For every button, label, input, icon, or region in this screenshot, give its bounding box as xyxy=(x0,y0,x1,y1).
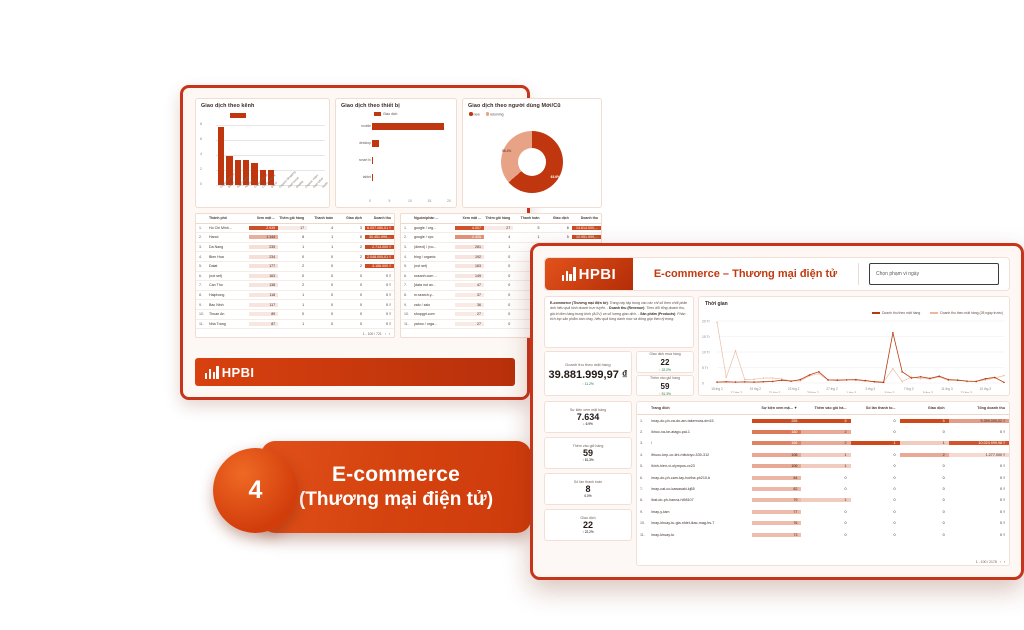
table-cell: 0 ₫ xyxy=(949,533,1009,537)
table-cell: 2. xyxy=(196,235,207,239)
table-cell: 5 xyxy=(543,235,572,239)
donut-chart: 63.6% 36.4% xyxy=(501,131,563,193)
step-badge-line1: E-commerce xyxy=(332,463,460,487)
table-cell: 0 xyxy=(307,303,336,307)
kpi-delta: ↑ 22.2% xyxy=(582,530,594,534)
table-row[interactable]: 11.Nha Trang871000 ₫ xyxy=(196,320,394,330)
table-cell: 0 xyxy=(900,521,949,525)
table-cell: 0 xyxy=(336,293,365,297)
table-cell: /may-do-ph-va-do-am-takemura-dm15 xyxy=(649,419,752,423)
column-header[interactable]: Thêm giỏ hàng xyxy=(278,216,307,220)
table-cell: 0 xyxy=(484,293,513,297)
column-header[interactable]: Tổng doanh thu xyxy=(949,406,1009,410)
table-cell: 1 xyxy=(278,293,307,297)
table-cell: 0 ₫ xyxy=(949,487,1009,491)
kpi-value: 59 xyxy=(583,448,593,458)
table-row[interactable]: 4.Bien Hoa2340022.048.000,01 ₫ xyxy=(196,252,394,262)
screenshot-stage: Giao dịch theo kênh 8 6 4 2 0 Organic Se… xyxy=(0,0,1024,630)
kpi-card: Số lần thanh toán80.0% xyxy=(544,473,632,505)
table-cell: 37 xyxy=(455,293,484,297)
table-cell: 10. xyxy=(196,312,207,316)
legend-dot-returning xyxy=(486,112,490,116)
svg-text:1 thg 3: 1 thg 3 xyxy=(846,391,856,393)
table-cell: 0 xyxy=(851,487,900,491)
table-cell: 1 xyxy=(513,235,542,239)
kpi-card: Giao dịch22↑ 22.2% xyxy=(544,509,632,541)
table-cell: 5 xyxy=(900,419,949,423)
table-cell: 0 ₫ xyxy=(949,521,1009,525)
table-cell: 0 xyxy=(278,255,307,259)
table-cell: 0 xyxy=(307,255,336,259)
table-cell: 2 xyxy=(336,255,365,259)
kpi-delta: ↑ 51.3% xyxy=(582,458,594,462)
table-row[interactable]: 1.google / org...4.007275814.614.000,... xyxy=(401,224,601,234)
table-row[interactable]: 6./may-do-ph-cam-tay-horiba-ph210-b84000… xyxy=(637,472,1009,483)
table-cell: bing / organic xyxy=(412,255,455,259)
table-cell: 14.614.000,... xyxy=(572,226,601,230)
column-header[interactable]: Thanh toán xyxy=(307,216,336,220)
table-cell: 108 xyxy=(752,453,801,457)
legend-item-returning: returning xyxy=(486,112,504,117)
table-cell: 1. xyxy=(196,226,207,230)
table-cell: 5. xyxy=(637,464,649,468)
table-cell: 11. xyxy=(401,322,412,326)
column-header[interactable]: Giao dịch xyxy=(543,216,572,220)
kpi-addcart: Thêm vào giỏ hàng 59 ↑ 51.3% xyxy=(636,375,694,396)
table-cell: 5 xyxy=(801,419,850,423)
table-cell: 0 xyxy=(851,533,900,537)
svg-text:0: 0 xyxy=(702,382,704,386)
table-cell: 118 xyxy=(249,293,278,297)
table-row[interactable]: 8./bat-do-ph-hanna-hi98107791000 ₫ xyxy=(637,495,1009,506)
time-series-legend: Doanh thu theo mặt hàng Doanh thu theo m… xyxy=(872,311,1003,315)
chart-panel-device: Giao dịch theo thiết bị Giao dịch mobile… xyxy=(335,98,457,208)
table-cell: 0 xyxy=(307,293,336,297)
table-cell: 8. xyxy=(401,293,412,297)
svg-text:11 thg 3: 11 thg 3 xyxy=(941,387,953,391)
table-cell: 10. xyxy=(637,521,649,525)
table-city[interactable]: Thành phốXem mặt ...Thêm giỏ hàngThanh t… xyxy=(195,213,395,338)
legend-marker-current xyxy=(872,312,880,314)
table-cell: 6.057.080,01 ₫ xyxy=(365,226,394,230)
table-cell: 2. xyxy=(637,430,649,434)
table-row[interactable]: 2.google / cpc2.40541510.951.999,... xyxy=(401,233,601,243)
table-cell: 6 xyxy=(336,235,365,239)
table-city-pager[interactable]: 1 - 100 / 721 ‹ › xyxy=(363,332,390,336)
legend-label-new: new xyxy=(473,113,479,117)
table-cell: 3. xyxy=(637,441,649,445)
table-cell: 3. xyxy=(401,245,412,249)
column-header[interactable]: Sự kiện xem mặ... ▼ xyxy=(752,406,801,410)
table-cell: 30.451.999,... xyxy=(365,235,394,239)
table-cell: 2.048.000,01 ₫ xyxy=(365,255,394,259)
table-row[interactable]: 7./may-cat-co-kawasaki-kj65820000 ₫ xyxy=(637,483,1009,494)
column-header[interactable]: Trang đích xyxy=(649,406,752,410)
table-row[interactable]: 10.Thuan An890000 ₫ xyxy=(196,310,394,320)
table-cell: 3 xyxy=(336,226,365,230)
table-header-row: Thành phốXem mặt ...Thêm giỏ hàngThanh t… xyxy=(196,214,394,224)
table-cell: 4 xyxy=(484,235,513,239)
table-cell: 2.405 xyxy=(455,235,484,239)
table-cell: 177 xyxy=(249,264,278,268)
table-cell: 281 xyxy=(455,245,484,249)
time-series-plot: 05 Tr10 Tr15 Tr20 Tr15 thg 217 thg 219 t… xyxy=(701,319,1006,393)
table-row[interactable]: 9.Bac Ninh1171000 ₫ xyxy=(196,300,394,310)
hbar xyxy=(372,123,444,130)
table-cell: (not set) xyxy=(412,264,455,268)
kpi-card: Sự kiện xem mặt hàng7.634↓ 6.9% xyxy=(544,401,632,433)
date-range-placeholder: Chọn phạm vi ngày xyxy=(876,271,919,277)
chart-bars-icon xyxy=(562,268,576,281)
table-cell: 0 xyxy=(484,274,513,278)
table-cell: yahoo / orga... xyxy=(412,322,455,326)
table-cell: Can Tho xyxy=(207,283,249,287)
legend-swatch-device xyxy=(374,112,381,116)
kpi-delta: ↓ 6.9% xyxy=(583,422,593,426)
table-cell: 0 xyxy=(801,487,850,491)
table-cell: 0 xyxy=(900,533,949,537)
table-row[interactable]: 7.Can Tho1382000 ₫ xyxy=(196,281,394,291)
legend-marker-previous xyxy=(930,312,938,314)
table-cell: 0 xyxy=(851,453,900,457)
kpi-value: 7.634 xyxy=(577,412,600,422)
table-cell: 0 xyxy=(851,430,900,434)
hbar xyxy=(372,157,373,164)
table-cell: (not set) xyxy=(207,274,249,278)
column-header[interactable]: Số lần thanh to... xyxy=(851,406,900,410)
table-cell: 0 xyxy=(900,430,949,434)
kpi-revenue-label: Doanh thu theo mặt hàng xyxy=(565,362,610,367)
xaxis-tick: 20 xyxy=(447,199,451,203)
table-cell: 0 ₫ xyxy=(949,430,1009,434)
column-header[interactable]: Giao dịch xyxy=(336,216,365,220)
table-cell: 2 xyxy=(278,264,307,268)
table-cell: 1 xyxy=(278,303,307,307)
xaxis-tick: 10 xyxy=(408,199,412,203)
table-cell: 0 xyxy=(801,510,850,514)
legend-swatch-channel xyxy=(230,113,246,118)
table-cell: 0 xyxy=(900,464,949,468)
table-cell: [data not av... xyxy=(412,283,455,287)
table-cell: 79 xyxy=(752,498,801,502)
column-header[interactable]: Doanh thu xyxy=(365,216,394,220)
table-cell: Bien Hoa xyxy=(207,255,249,259)
table-cell: 0 xyxy=(336,283,365,287)
column-header[interactable]: Thêm vào giỏ hà... xyxy=(801,406,850,410)
table-cell: Hanoi xyxy=(207,235,249,239)
legend-label-previous: Doanh thu theo mặt hàng (28 ngày trước) xyxy=(940,311,1003,315)
kpi-purchase-value: 22 xyxy=(661,358,670,367)
svg-text:9 thg 3: 9 thg 3 xyxy=(923,391,933,393)
xaxis-tick: 15 xyxy=(428,199,432,203)
svg-text:5 Tr: 5 Tr xyxy=(702,366,709,370)
table-cell: 0 xyxy=(484,312,513,316)
table-cell: 7. xyxy=(401,283,412,287)
svg-text:15 Tr: 15 Tr xyxy=(702,335,711,339)
table-cell: 1. xyxy=(637,419,649,423)
step-badge-number: 4 xyxy=(213,448,298,533)
kpi-addcart-label: Thêm vào giỏ hàng xyxy=(650,376,680,380)
kpi-value: 22 xyxy=(583,520,593,530)
date-range-input[interactable]: Chọn phạm vi ngày xyxy=(869,263,999,285)
table-cell: 180 xyxy=(752,430,801,434)
table-cell: 84 xyxy=(752,476,801,480)
table-cell: 7. xyxy=(637,487,649,491)
table-cell: 2.713.000 ₫ xyxy=(365,245,394,249)
table-cell: 4 xyxy=(307,226,336,230)
table-cell: 0 xyxy=(851,464,900,468)
legend-item-previous: Doanh thu theo mặt hàng (28 ngày trước) xyxy=(930,311,1003,315)
table-cell: 234 xyxy=(249,255,278,259)
table-cell: 4. xyxy=(637,453,649,457)
kpi-card: Thêm vào giỏ hàng59↑ 51.3% xyxy=(544,437,632,469)
chart-title-device: Giao dịch theo thiết bị xyxy=(341,103,400,109)
table-cell: 1 xyxy=(851,441,900,445)
header-divider xyxy=(858,263,859,285)
legend-label-current: Doanh thu theo mặt hàng xyxy=(882,311,920,315)
table-cell: Dalat xyxy=(207,264,249,268)
table-cell: zalo / zalo xyxy=(412,303,455,307)
table-cell: 27 xyxy=(484,226,513,230)
kpi-column: Sự kiện xem mặt hàng7.634↓ 6.9%Thêm vào … xyxy=(544,401,632,566)
hbar-label: tablet xyxy=(341,175,371,179)
ytick-4: 4 xyxy=(200,152,202,156)
table-cell: 163 xyxy=(455,264,484,268)
table-row[interactable]: 2.Hanoi1.14481630.451.999,... xyxy=(196,233,394,243)
xaxis-tick: 0 xyxy=(369,199,371,203)
table-cell: 1 xyxy=(307,235,336,239)
table-cell: google / cpc xyxy=(412,235,455,239)
legend-item-current: Doanh thu theo mặt hàng xyxy=(872,311,920,315)
table-cell: 89 xyxy=(249,312,278,316)
svg-text:21 thg 2: 21 thg 2 xyxy=(769,391,781,393)
table-cell: 0 xyxy=(278,274,307,278)
table-cell: 0 xyxy=(801,533,850,537)
table-cell: 2.939 xyxy=(249,226,278,230)
table-cell: 0 xyxy=(278,312,307,316)
bar xyxy=(218,127,224,185)
chart-title-newreturning: Giao dịch theo người dùng Mới/Cũ xyxy=(468,103,561,109)
table-cell: 0 ₫ xyxy=(949,510,1009,514)
hbar xyxy=(372,140,379,147)
front-dashboard-canvas: HPBI E-commerce – Thương mại điện tử Chọ… xyxy=(538,251,1016,572)
kpi-revenue-value: 39.881.999,97 ₫ xyxy=(548,369,627,381)
svg-text:10 Tr: 10 Tr xyxy=(702,351,711,355)
table-cell: Haiphong xyxy=(207,293,249,297)
table-cell: 0 ₫ xyxy=(365,283,394,287)
table-cell: 0 xyxy=(484,255,513,259)
chart-panel-newreturning: Giao dịch theo người dùng Mới/Cũ new ret… xyxy=(462,98,602,208)
table-cell: Da Nang xyxy=(207,245,249,249)
table-row[interactable]: 5.Dalat1772023.156.000 ₫ xyxy=(196,262,394,272)
table-cell: 6. xyxy=(196,274,207,278)
table-row[interactable]: 3.Da Nang2351122.713.000 ₫ xyxy=(196,243,394,253)
kpi-revenue: Doanh thu theo mặt hàng 39.881.999,97 ₫ … xyxy=(544,351,632,396)
legend-item-new: new xyxy=(469,112,480,117)
table-landing-pager[interactable]: 1 - 100 / 2178 ‹ › xyxy=(976,560,1005,564)
table-cell: 0 xyxy=(484,322,513,326)
ytick-6: 6 xyxy=(200,137,202,141)
table-cell: / xyxy=(649,441,752,445)
ytick-2: 2 xyxy=(200,167,202,171)
table-row[interactable]: 10./may-khuay-tu-gia-nhiet-ikac-mag-hs-7… xyxy=(637,518,1009,529)
svg-text:20 Tr: 20 Tr xyxy=(702,320,711,324)
table-cell: 2 xyxy=(801,430,850,434)
table-cell: 0 ₫ xyxy=(365,303,394,307)
table-cell: 9. xyxy=(196,303,207,307)
svg-text:23 thg 2: 23 thg 2 xyxy=(788,387,800,391)
table-cell: 0 xyxy=(307,264,336,268)
table-row[interactable]: 6.(not set)1630000 ₫ xyxy=(196,272,394,282)
table-cell: 5.359.000,02 ₫ xyxy=(949,419,1009,423)
table-cell: 1.144 xyxy=(249,235,278,239)
table-cell: sosanh.com ... xyxy=(412,274,455,278)
table-cell: 255 xyxy=(752,419,801,423)
table-cell: 0 xyxy=(336,274,365,278)
chart-panel-channel: Giao dịch theo kênh 8 6 4 2 0 Organic Se… xyxy=(195,98,330,208)
table-row[interactable]: 1.Ho Chi Minh...2.93917436.057.080,01 ₫ xyxy=(196,224,394,234)
next-page-icon[interactable]: › xyxy=(1004,560,1005,564)
table-cell: /bat-do-ph-hanna-hi98107 xyxy=(649,498,752,502)
table-cell: 1 xyxy=(278,322,307,326)
svg-text:17 thg 2: 17 thg 2 xyxy=(730,391,742,393)
legend-dot-new xyxy=(469,112,473,116)
kpi-value: 8 xyxy=(585,484,590,494)
prev-page-icon[interactable]: ‹ xyxy=(1000,560,1001,564)
table-cell: 9. xyxy=(637,510,649,514)
table-row[interactable]: 2./khuc-xa-ke-atago-pal-11802000 ₫ xyxy=(637,426,1009,437)
pager-range: 1 - 100 / 721 xyxy=(363,332,382,336)
column-header[interactable]: Thêm giỏ hàng xyxy=(484,216,513,220)
column-header[interactable]: Xem mặt ... xyxy=(249,216,278,220)
ytick-0: 0 xyxy=(200,182,202,186)
next-page-icon[interactable]: › xyxy=(389,332,390,336)
table-cell: 0 ₫ xyxy=(365,293,394,297)
column-header[interactable]: Thành phố xyxy=(207,216,249,220)
table-cell: 8. xyxy=(637,498,649,502)
table-row[interactable]: 3./16621110.024.999,98 ₫ xyxy=(637,438,1009,449)
table-cell: 0 xyxy=(484,303,513,307)
table-cell: 0 xyxy=(801,521,850,525)
table-cell: 0 xyxy=(307,283,336,287)
table-cell: 5. xyxy=(401,264,412,268)
step-badge-bar: E-commerce (Thương mại điện tử) xyxy=(261,441,531,533)
table-cell: 4. xyxy=(196,255,207,259)
table-cell: 0 ₫ xyxy=(949,498,1009,502)
table-cell: 3. xyxy=(196,245,207,249)
table-row[interactable]: 9./may-y-tam770000 ₫ xyxy=(637,506,1009,517)
table-city-body[interactable]: 1.Ho Chi Minh...2.93917436.057.080,01 ₫2… xyxy=(196,224,394,330)
column-header[interactable]: Thanh toán xyxy=(513,216,542,220)
table-cell: 1 xyxy=(801,453,850,457)
column-header[interactable]: Xem mặt ... xyxy=(455,216,484,220)
table-cell: 4.007 xyxy=(455,226,484,230)
table-cell: 0 xyxy=(307,274,336,278)
table-cell: Thuan An xyxy=(207,312,249,316)
table-cell: 1 xyxy=(801,464,850,468)
table-cell: 11. xyxy=(637,533,649,537)
column-header[interactable]: Nguồn/phần ... xyxy=(412,216,455,220)
hbar xyxy=(372,174,373,181)
time-series-title: Thời gian xyxy=(705,301,728,307)
table-cell: 0 xyxy=(900,487,949,491)
table-row[interactable]: 11./may-khuay-tu730000 ₫ xyxy=(637,529,1009,540)
front-logo-text: HPBI xyxy=(579,266,616,283)
step-badge-line2: (Thương mại điện tử) xyxy=(299,489,493,511)
table-cell: 47 xyxy=(455,283,484,287)
svg-text:15 thg 2: 15 thg 2 xyxy=(711,387,723,391)
legend-label-device: Giao dịch xyxy=(383,112,397,116)
table-cell: /khuc-xa-ke-atago-pal-1 xyxy=(649,430,752,434)
table-source-header: Nguồn/phần ...Xem mặt ...Thêm giỏ hàngTh… xyxy=(401,214,601,224)
front-logo[interactable]: HPBI xyxy=(545,258,633,290)
table-cell: 27 xyxy=(455,322,484,326)
table-cell: 0 xyxy=(851,419,900,423)
table-cell: Ho Chi Minh... xyxy=(207,226,249,230)
table-cell: Nha Trang xyxy=(207,322,249,326)
table-row[interactable]: 8.Haiphong1181000 ₫ xyxy=(196,291,394,301)
table-cell: 17 xyxy=(278,226,307,230)
table-cell: 1 xyxy=(278,245,307,249)
hbar-label: desktop xyxy=(341,141,371,145)
pager-range: 1 - 100 / 2178 xyxy=(976,560,997,564)
page-title: E-commerce – Thương mại điện tử xyxy=(633,268,858,280)
table-cell: 0 ₫ xyxy=(365,312,394,316)
xaxis-labels-channel: Organic SearchDirectPaid SearchReferralO… xyxy=(218,185,326,205)
table-cell: 1 xyxy=(484,245,513,249)
table-cell: 0 xyxy=(484,264,513,268)
front-header: HPBI E-commerce – Thương mại điện tử Chọ… xyxy=(544,257,1010,291)
table-cell: 2. xyxy=(401,235,412,239)
table-row[interactable]: 1./may-do-ph-va-do-am-takemura-dm1525550… xyxy=(637,415,1009,426)
table-landing-body[interactable]: 1./may-do-ph-va-do-am-takemura-dm1525550… xyxy=(637,415,1009,540)
table-cell: 9. xyxy=(401,303,412,307)
svg-text:27 thg 2: 27 thg 2 xyxy=(826,387,838,391)
table-cell: 0 ₫ xyxy=(365,274,394,278)
table-cell: 36 xyxy=(455,303,484,307)
back-logo-text: HPBI xyxy=(222,365,255,380)
front-dashboard-window: HPBI E-commerce – Thương mại điện tử Chọ… xyxy=(530,243,1024,580)
table-row[interactable]: 4./thuoc-kep-co-khi-mitutoyo-530-3121081… xyxy=(637,449,1009,460)
svg-text:7 thg 3: 7 thg 3 xyxy=(904,387,914,391)
table-cell: 166 xyxy=(752,441,801,445)
prev-page-icon[interactable]: ‹ xyxy=(385,332,386,336)
legend-label-returning: returning xyxy=(490,113,503,117)
table-landing-pages[interactable]: Trang đíchSự kiện xem mặ... ▼Thêm vào gi… xyxy=(636,401,1010,566)
table-cell: 1.277.000 ₫ xyxy=(949,453,1009,457)
table-cell: 0 xyxy=(851,510,900,514)
column-header[interactable]: Doanh thu xyxy=(572,216,601,220)
table-cell: /may-cat-co-kawasaki-kj65 xyxy=(649,487,752,491)
column-header[interactable]: Giao dịch xyxy=(900,406,949,410)
table-cell: 2 xyxy=(278,283,307,287)
table-cell: 0 ₫ xyxy=(949,464,1009,468)
donut-ring: 63.6% 36.4% xyxy=(501,131,563,193)
donut-label-returning: 36.4% xyxy=(502,149,511,153)
table-cell: 0 xyxy=(900,476,949,480)
description-text: E-commerce (Thương mại điện tử): Trang n… xyxy=(550,301,688,322)
table-cell: 73 xyxy=(752,533,801,537)
table-cell: 8 xyxy=(278,235,307,239)
table-cell: 8 xyxy=(543,226,572,230)
table-cell: (direct) / (no... xyxy=(412,245,455,249)
table-cell: 235 xyxy=(249,245,278,249)
svg-text:3 thg 3: 3 thg 3 xyxy=(865,387,875,391)
table-cell: 0 xyxy=(336,303,365,307)
table-row[interactable]: 5./kinh-hien-vi-olympus-cx231061000 ₫ xyxy=(637,461,1009,472)
table-cell: Bac Ninh xyxy=(207,303,249,307)
table-cell: 0 xyxy=(900,510,949,514)
